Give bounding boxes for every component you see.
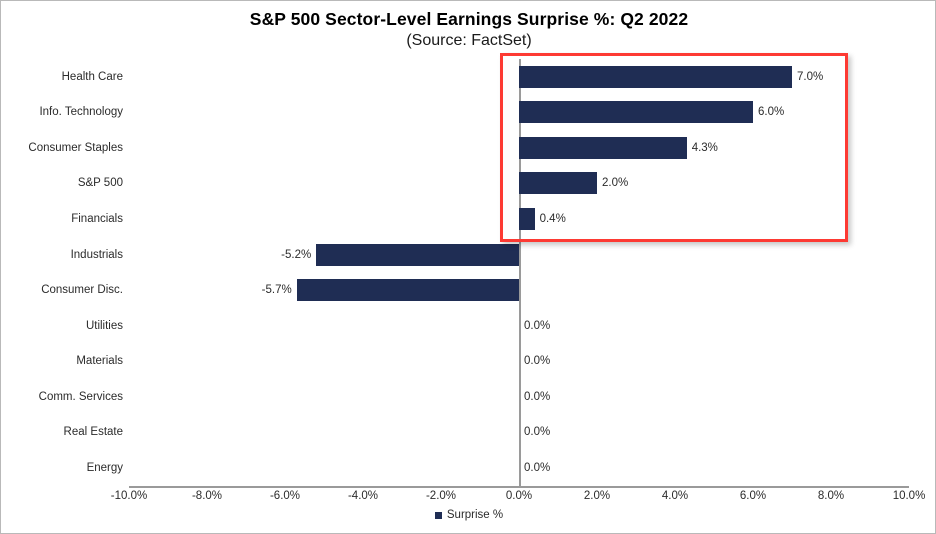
- bar-value-label: 0.4%: [540, 213, 566, 225]
- bar-value-label: 2.0%: [602, 177, 628, 189]
- category-label: Real Estate: [64, 426, 123, 438]
- chart-title: S&P 500 Sector-Level Earnings Surprise %…: [1, 9, 936, 30]
- chart-container: S&P 500 Sector-Level Earnings Surprise %…: [0, 0, 936, 534]
- category-label: Consumer Disc.: [41, 284, 123, 296]
- category-label: Utilities: [86, 320, 123, 332]
- bar-row: S&P 5002.0%: [129, 166, 909, 202]
- bar-row: Consumer Disc.-5.7%: [129, 272, 909, 308]
- bar[interactable]: [519, 137, 687, 159]
- bar-row: Materials0.0%: [129, 343, 909, 379]
- category-label: Materials: [76, 355, 123, 367]
- bar[interactable]: [297, 279, 519, 301]
- x-tick-label: 0.0%: [484, 490, 554, 502]
- category-label: Energy: [87, 462, 123, 474]
- bar[interactable]: [316, 244, 519, 266]
- bar-value-label: 0.0%: [524, 320, 550, 332]
- category-label: Industrials: [71, 249, 123, 261]
- bar-row: Industrials-5.2%: [129, 237, 909, 273]
- category-label: Consumer Staples: [28, 142, 123, 154]
- x-axis-line: [129, 486, 909, 488]
- bar-row: Consumer Staples4.3%: [129, 130, 909, 166]
- bar-row: Comm. Services0.0%: [129, 379, 909, 415]
- bar-value-label: 0.0%: [524, 355, 550, 367]
- bar-row: Energy0.0%: [129, 450, 909, 486]
- bar-row: Financials0.4%: [129, 201, 909, 237]
- x-tick-label: 4.0%: [640, 490, 710, 502]
- category-label: Comm. Services: [39, 391, 123, 403]
- category-label: S&P 500: [78, 177, 123, 189]
- bar[interactable]: [519, 101, 753, 123]
- x-tick-label: 6.0%: [718, 490, 788, 502]
- bar-row: Health Care7.0%: [129, 59, 909, 95]
- chart-legend: Surprise %: [1, 509, 936, 521]
- bar-value-label: -5.2%: [281, 249, 311, 261]
- plot-area: Health Care7.0%Info. Technology6.0%Consu…: [129, 59, 909, 486]
- x-tick-label: 8.0%: [796, 490, 866, 502]
- bar-row: Utilities0.0%: [129, 308, 909, 344]
- bar-value-label: 0.0%: [524, 391, 550, 403]
- bar-value-label: 0.0%: [524, 426, 550, 438]
- chart-subtitle: (Source: FactSet): [1, 32, 936, 50]
- bar-value-label: 6.0%: [758, 106, 784, 118]
- x-tick-label: -10.0%: [94, 490, 164, 502]
- bar-value-label: 0.0%: [524, 462, 550, 474]
- legend-swatch-icon: [435, 512, 442, 519]
- x-tick-label: 10.0%: [874, 490, 936, 502]
- bar-value-label: 4.3%: [692, 142, 718, 154]
- x-tick-label: -2.0%: [406, 490, 476, 502]
- x-tick-label: -6.0%: [250, 490, 320, 502]
- bar[interactable]: [519, 172, 597, 194]
- bar[interactable]: [519, 66, 792, 88]
- bar[interactable]: [519, 208, 535, 230]
- x-tick-label: -8.0%: [172, 490, 242, 502]
- x-tick-label: -4.0%: [328, 490, 398, 502]
- bar-row: Info. Technology6.0%: [129, 95, 909, 131]
- bar-row: Real Estate0.0%: [129, 415, 909, 451]
- bar-value-label: 7.0%: [797, 71, 823, 83]
- bar-value-label: -5.7%: [262, 284, 292, 296]
- legend-label: Surprise %: [447, 509, 503, 521]
- category-label: Financials: [71, 213, 123, 225]
- category-label: Info. Technology: [39, 106, 123, 118]
- category-label: Health Care: [62, 71, 123, 83]
- x-tick-label: 2.0%: [562, 490, 632, 502]
